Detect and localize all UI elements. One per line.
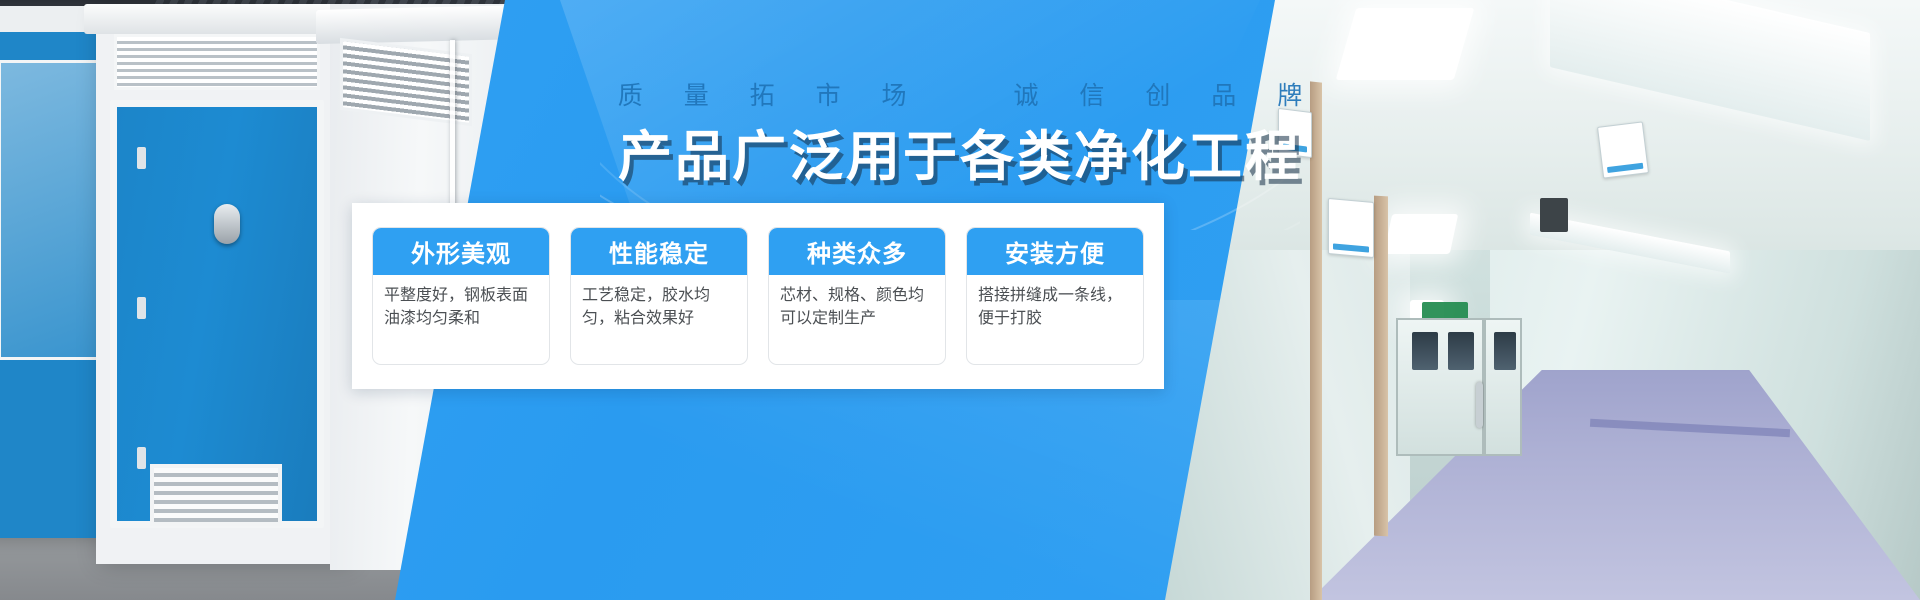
corridor-double-door-left [1396,318,1484,456]
door-hinge [137,297,146,319]
wall-speaker [1540,198,1568,232]
feature-card-title: 性能稳定 [571,228,747,275]
feature-card-4[interactable]: 安装方便 搭接拼缝成一条线，便于打胶 [966,227,1144,365]
feature-card-description: 芯材、规格、颜色均可以定制生产 [769,275,945,364]
ceiling-led-panel [1336,8,1475,80]
door-window [1412,332,1438,370]
door-window [1494,332,1516,370]
promo-banner: 质 量 拓 市 场 诚 信 创 品 牌 产品广泛用于各类净化工程 外形美观 平整… [0,0,1920,600]
feature-cards-panel: 外形美观 平整度好，钢板表面油漆均匀柔和 性能稳定 工艺稳定，胶水均匀，粘合效果… [352,203,1164,389]
door-window [1448,332,1474,370]
feature-card-description: 工艺稳定，胶水均匀，粘合效果好 [571,275,747,364]
feature-card-title: 种类众多 [769,228,945,275]
banner-headline: 产品广泛用于各类净化工程 [0,112,1920,191]
banner-tagline: 质 量 拓 市 场 诚 信 创 品 牌 [0,76,1920,112]
feature-card-description: 平整度好，钢板表面油漆均匀柔和 [373,275,549,364]
door-hinge [137,447,146,469]
door-jamb [1374,196,1388,537]
feature-card-title: 安装方便 [967,228,1143,275]
ceiling-led-panel [1384,214,1459,254]
cabin-bottom-vent [150,464,282,526]
feature-card-3[interactable]: 种类众多 芯材、规格、颜色均可以定制生产 [768,227,946,365]
feature-card-1[interactable]: 外形美观 平整度好，钢板表面油漆均匀柔和 [372,227,550,365]
door-handle [1476,382,1483,428]
corridor-double-door-right [1484,318,1522,456]
feature-card-2[interactable]: 性能稳定 工艺稳定，胶水均匀，粘合效果好 [570,227,748,365]
feature-card-title: 外形美观 [373,228,549,275]
feature-cards-list: 外形美观 平整度好，钢板表面油漆均匀柔和 性能稳定 工艺稳定，胶水均匀，粘合效果… [352,203,1164,389]
door-handle [214,204,240,244]
feature-card-description: 搭接拼缝成一条线，便于打胶 [967,275,1143,364]
wall-notice-sign [1328,198,1374,258]
